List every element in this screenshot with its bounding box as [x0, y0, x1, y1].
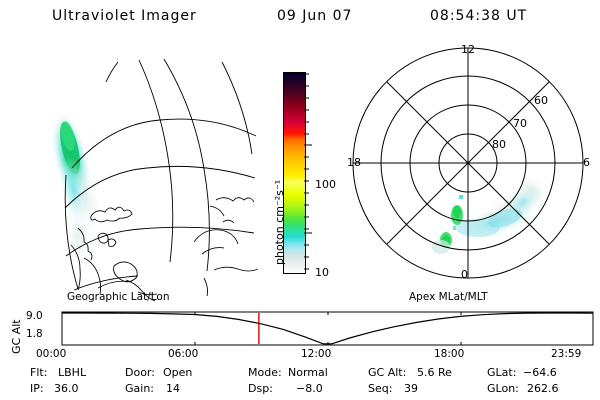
polar-label-lat-80: 80	[492, 138, 506, 151]
status-flt-key: Flt:	[30, 366, 47, 379]
orbit-x-tick-1: 06:00	[168, 348, 198, 360]
geographic-panel-caption: Geographic Lat/Lon	[67, 291, 169, 303]
status-gcalt-value: 5.6 Re	[417, 366, 452, 379]
uvi-display: Ultraviolet Imager 09 Jun 07 08:54:38 UT	[0, 0, 600, 400]
status-gain-key: Gain:	[125, 382, 154, 395]
status-door-value: Open	[163, 366, 192, 379]
geographic-graticule	[65, 59, 256, 290]
polar-label-mlt-12: 12	[461, 43, 475, 56]
polar-label-mlt-0: 0	[461, 268, 468, 281]
colorbar-tick-100: 100	[315, 178, 336, 191]
polar-label-lat-60: 60	[534, 94, 548, 107]
colorbar-axis-label: photon cm⁻²s⁻¹	[273, 180, 286, 265]
status-footer: Flt: LBHL Door: Open Mode: Normal GC Alt…	[0, 366, 600, 400]
polar-label-mlt-6: 6	[583, 156, 590, 169]
apex-polar-panel: 12 6 0 18 60 70 80	[345, 40, 595, 295]
status-ip-key: IP:	[30, 382, 44, 395]
orbit-x-tick-marks	[195, 312, 461, 345]
orbit-altitude-trace	[62, 313, 593, 344]
colorbar-tick-10: 10	[315, 266, 329, 279]
orbit-altitude-chart: GC Alt 9.0 1.8 00:00 06:00 12:00 18:00 2…	[0, 304, 600, 356]
orbit-y-tick-min: 1.8	[26, 328, 43, 340]
status-seq-value: 39	[404, 382, 418, 395]
instrument-title: Ultraviolet Imager	[52, 8, 197, 24]
polar-label-lat-70: 70	[513, 117, 527, 130]
status-mode-key: Mode:	[248, 366, 282, 379]
polar-mlt-spokes	[353, 48, 583, 278]
orbit-y-tick-max: 9.0	[26, 310, 43, 322]
orbit-plot-area	[62, 312, 594, 346]
orbit-x-tick-2: 12:00	[301, 348, 331, 360]
observation-date: 09 Jun 07	[277, 8, 352, 24]
status-glon-key: GLon:	[487, 382, 519, 395]
orbit-x-tick-3: 18:00	[434, 348, 464, 360]
colorbar-panel: 100 10 photon cm⁻²s⁻¹	[255, 40, 345, 295]
orbit-x-tick-4: 23:59	[551, 348, 581, 360]
status-ip-value: 36.0	[54, 382, 79, 395]
status-glat-key: GLat:	[487, 366, 516, 379]
aurora-emission-geographic	[44, 109, 105, 265]
orbit-y-axis-label: GC Alt	[10, 319, 23, 354]
status-mode-value: Normal	[288, 366, 328, 379]
status-dsp-key: Dsp:	[248, 382, 273, 395]
geographic-image-panel	[8, 40, 258, 295]
colorbar-ticks	[304, 72, 316, 274]
status-glat-value: −64.6	[523, 366, 557, 379]
status-dsp-value: −8.0	[296, 382, 323, 395]
status-seq-key: Seq:	[368, 382, 392, 395]
observation-time: 08:54:38 UT	[430, 8, 527, 24]
status-door-key: Door:	[125, 366, 155, 379]
apex-panel-caption: Apex MLat/MLT	[409, 291, 488, 303]
status-gcalt-key: GC Alt:	[368, 366, 406, 379]
status-glon-value: 262.6	[527, 382, 559, 395]
status-gain-value: 14	[166, 382, 180, 395]
colorbar-gradient	[283, 72, 306, 274]
polar-label-mlt-18: 18	[347, 156, 361, 169]
orbit-x-tick-0: 00:00	[36, 348, 66, 360]
status-flt-value: LBHL	[58, 366, 86, 379]
